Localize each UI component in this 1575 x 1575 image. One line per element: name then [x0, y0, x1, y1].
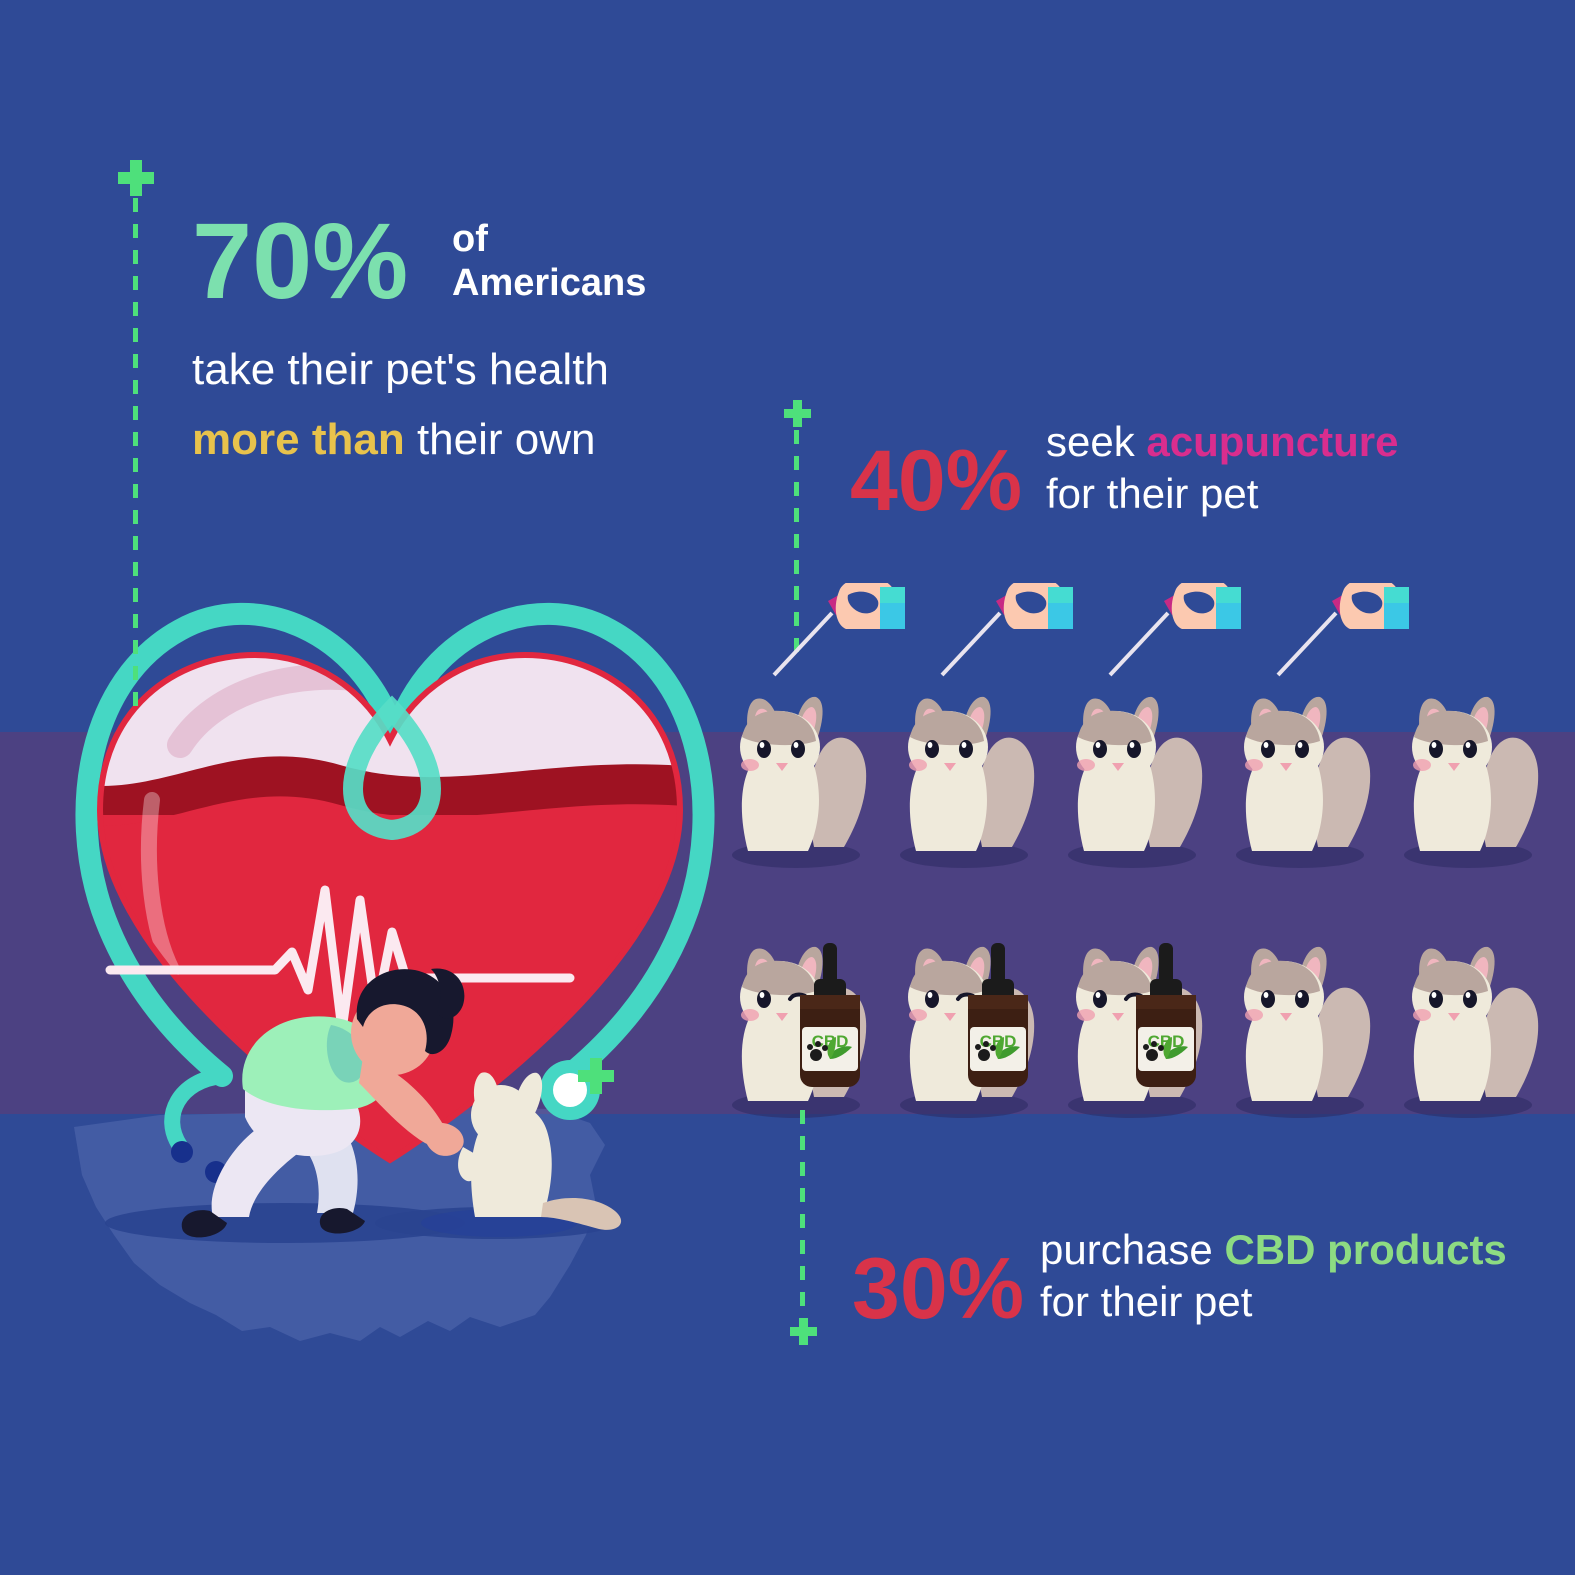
medical-plus-icon-cbd [790, 1318, 817, 1345]
cat-icon [1054, 655, 1214, 870]
stat-line-purchase-cbd: purchase CBD products [1040, 1224, 1507, 1275]
stat-line-seek-acupuncture: seek acupuncture [1046, 416, 1398, 467]
pictogram-cat-cbd-1: CBD [718, 905, 878, 1120]
cbd-bottle-icon: CBD [1126, 943, 1206, 1093]
stat-line-for-their-pet-cbd: for their pet [1040, 1276, 1252, 1327]
cbd-bottle-icon: CBD [790, 943, 870, 1093]
stat-line-their-own: their own [417, 415, 596, 464]
stat-word-seek: seek [1046, 418, 1135, 465]
stat-line-more-than: more than their own [192, 415, 595, 465]
stat-word-purchase: purchase [1040, 1226, 1213, 1273]
stat-percent-cbd: 30% [852, 1240, 1024, 1339]
stat-line-for-their-pet-acu: for their pet [1046, 468, 1258, 519]
cat-icon [1390, 655, 1550, 870]
stat-percent-acupuncture: 40% [850, 432, 1022, 531]
pictogram-cat-cbd-4 [1222, 905, 1382, 1120]
stat-accent-cbd-products: CBD products [1224, 1226, 1506, 1273]
cbd-bottle-icon: CBD [958, 943, 1038, 1093]
stat-label-americans: Americans [452, 262, 646, 305]
person-petting-cat-illustration [95, 955, 655, 1245]
pictogram-cat-acupuncture-3 [1054, 655, 1214, 870]
medical-plus-icon-americans [118, 160, 154, 196]
pictogram-cat-acupuncture-5 [1390, 655, 1550, 870]
dashed-connector-cbd [800, 1110, 805, 1320]
cat-icon [1222, 655, 1382, 870]
stat-accent-more-than: more than [192, 415, 405, 464]
medical-plus-icon-acupuncture [784, 400, 811, 427]
dashed-connector-americans [133, 198, 138, 718]
pictogram-cat-cbd-5 [1390, 905, 1550, 1120]
pictogram-row-cbd: CBD [718, 905, 1550, 1120]
cat-icon [1390, 905, 1550, 1120]
stat-percent-americans: 70% [192, 198, 408, 323]
pictogram-cat-acupuncture-2 [886, 655, 1046, 870]
pictogram-cat-cbd-3: CBD [1054, 905, 1214, 1120]
cat-icon [1222, 905, 1382, 1120]
pictogram-row-acupuncture [718, 655, 1550, 870]
cat-icon [718, 655, 878, 870]
cat-icon [886, 655, 1046, 870]
pictogram-cat-cbd-2: CBD [886, 905, 1046, 1120]
stat-accent-acupuncture: acupuncture [1146, 418, 1398, 465]
infographic-canvas: 70% of Americans take their pet's health… [0, 0, 1575, 1575]
pictogram-cat-acupuncture-4 [1222, 655, 1382, 870]
pictogram-cat-acupuncture-1 [718, 655, 878, 870]
stat-label-of: of [452, 218, 488, 261]
stat-line-pet-health: take their pet's health [192, 345, 609, 395]
